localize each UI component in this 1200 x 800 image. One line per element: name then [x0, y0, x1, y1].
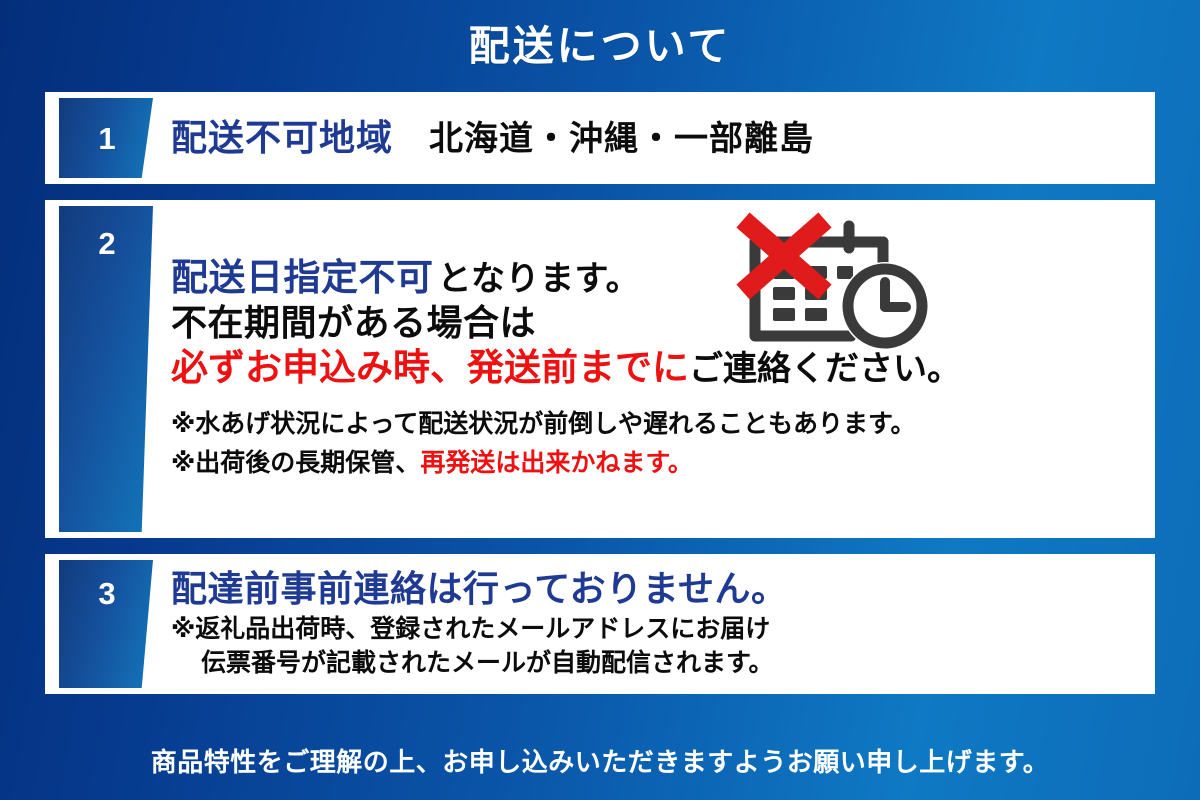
section-3-body: 配達前事前連絡は行っておりません。 ※返礼品出荷時、登録されたメールアドレスにお…: [153, 554, 1155, 694]
section-1-row: 配送不可地域 北海道・沖縄・一部離島: [171, 118, 1155, 158]
section-3-number-badge: 3: [59, 560, 153, 688]
section-3-note-line-1: ※返礼品出荷時、登録されたメールアドレスにお届け: [171, 613, 1155, 647]
section-1-body: 配送不可地域 北海道・沖縄・一部離島: [153, 92, 1155, 184]
section-1-heading: 配送不可地域: [171, 118, 393, 158]
section-3-heading: 配達前事前連絡は行っておりません。: [171, 568, 788, 609]
section-2-line1-emphasis: 配送日指定不可: [171, 256, 434, 300]
section-2-number-badge: 2: [59, 206, 153, 532]
header: 配送について: [0, 0, 1200, 92]
section-2-number: 2: [96, 212, 115, 259]
section-2-note-1: ※水あげ状況によって配送状況が前倒しや遅れることもあります。: [171, 405, 1155, 444]
section-1-value: 北海道・沖縄・一部離島: [429, 121, 814, 158]
section-2-note2-emphasis: 再発送は出来かねます。: [420, 444, 693, 483]
section-2-line3-emphasis: 必ずお申込み時、発送前までに: [171, 346, 689, 390]
section-2-line1-tail: となります。: [438, 259, 641, 299]
section-3-note-line-2: 伝票番号が記載されたメールが自動配信されます。: [171, 647, 1155, 681]
section-3-heading-row: 配達前事前連絡は行っておりません。: [171, 568, 1155, 609]
section-2-note-2: ※出荷後の長期保管、 再発送は出来かねます。: [171, 444, 1155, 483]
infographic-root: 配送について 1 配送不可地域 北海道・沖縄・一部離島 2 配送日指定不可: [0, 0, 1200, 800]
section-3-note: ※返礼品出荷時、登録されたメールアドレスにお届け 伝票番号が記載されたメールが自…: [171, 613, 1155, 681]
section-2-body: 配送日指定不可 となります。 不在期間がある場合は 必ずお申込み時、発送前までに…: [153, 200, 1155, 538]
page-title: 配送について: [469, 26, 732, 67]
section-2-note2-prefix: ※出荷後の長期保管、: [171, 444, 420, 483]
footer: 商品特性をご理解の上、お申し込みいただきますようお願い申し上げます。: [0, 724, 1200, 800]
section-2-line3-tail: ご連絡ください。: [689, 349, 961, 390]
section-2-note1-text: ※水あげ状況によって配送状況が前倒しや遅れることもあります。: [171, 405, 916, 444]
section-2-line2-text: 不在期間がある場合は: [171, 301, 536, 344]
section-3-number: 3: [96, 566, 115, 609]
section-3: 3 配達前事前連絡は行っておりません。 ※返礼品出荷時、登録されたメールアドレス…: [45, 554, 1155, 694]
section-1: 1 配送不可地域 北海道・沖縄・一部離島: [45, 92, 1155, 184]
sections-container: 1 配送不可地域 北海道・沖縄・一部離島 2 配送日指定不可 となります。: [0, 92, 1200, 724]
section-2-line-2: 不在期間がある場合は: [171, 301, 1155, 344]
section-2-line-3: 必ずお申込み時、発送前までに ご連絡ください。: [171, 346, 1155, 390]
section-1-number: 1: [96, 123, 115, 154]
section-2: 2 配送日指定不可 となります。 不在期間がある場合は 必ずお申込み時、発送前ま…: [45, 200, 1155, 538]
section-2-line-1: 配送日指定不可 となります。: [171, 256, 1155, 300]
footer-text: 商品特性をご理解の上、お申し込みいただきますようお願い申し上げます。: [151, 749, 1049, 775]
section-1-number-badge: 1: [59, 98, 153, 178]
